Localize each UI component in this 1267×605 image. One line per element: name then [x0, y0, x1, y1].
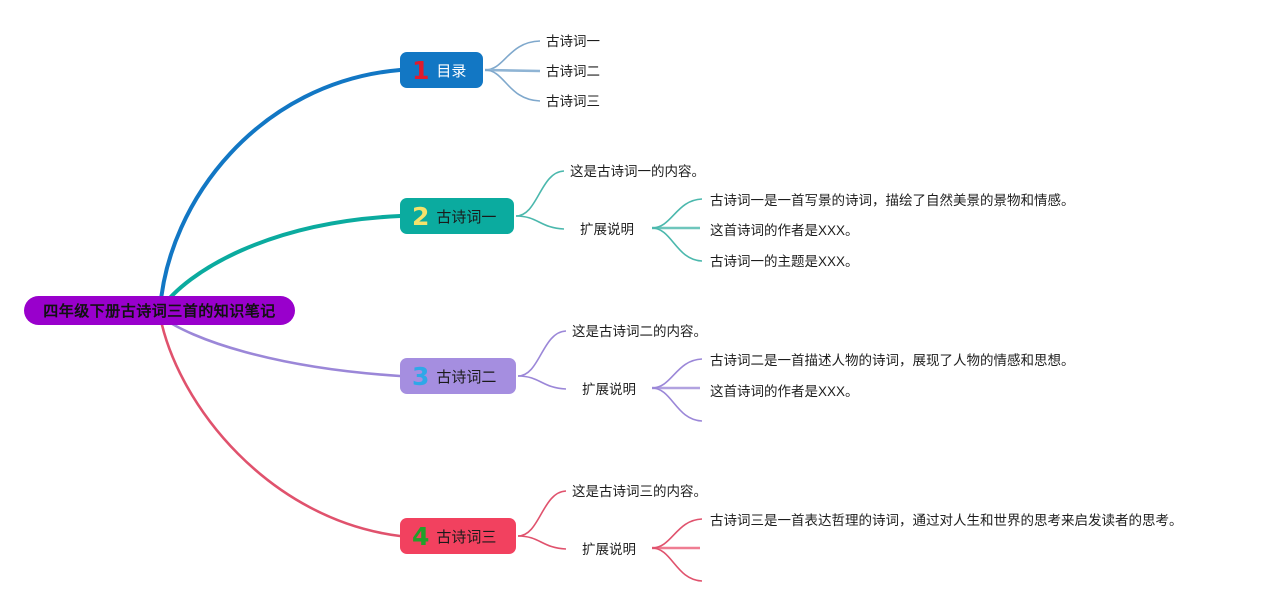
edge-branch-1-child-2 [485, 70, 540, 71]
edge-branch-1-child-1 [485, 41, 540, 70]
branch-3-sub-1[interactable]: 古诗词二是一首描述人物的诗词，展现了人物的情感和思想。 [710, 354, 1075, 368]
branch-4-sub-1[interactable]: 古诗词三是一首表达哲理的诗词，通过对人生和世界的思考来启发读者的思考。 [710, 514, 1183, 528]
main-node-2-title: 古诗词一 [436, 206, 496, 227]
main-node-4-number: 4 [412, 524, 429, 549]
branch-3-sub-2[interactable]: 这首诗词的作者是XXX。 [710, 385, 859, 399]
edge-branch-3-sub-3 [652, 388, 702, 421]
edge-branch-3-child-1 [518, 331, 566, 376]
branch-2-sub-2[interactable]: 这首诗词的作者是XXX。 [710, 224, 859, 238]
main-node-3-number: 3 [412, 364, 429, 389]
edge-root-to-branch-3 [160, 316, 400, 376]
branch-2-sub-1[interactable]: 古诗词一是一首写景的诗词，描绘了自然美景的景物和情感。 [710, 194, 1075, 208]
mindmap-canvas: 四年级下册古诗词三首的知识笔记 1 目录 古诗词一 古诗词二 古诗词三 2 古诗… [0, 0, 1267, 605]
main-node-3[interactable]: 3 古诗词二 [400, 358, 516, 394]
main-node-1-title: 目录 [436, 60, 466, 81]
branch-3-expand-label[interactable]: 扩展说明 [582, 383, 636, 397]
edge-root-to-branch-1 [160, 70, 400, 310]
branch-2-child-1[interactable]: 这是古诗词一的内容。 [570, 165, 705, 179]
main-node-3-title: 古诗词二 [436, 366, 496, 387]
branch-4-child-1[interactable]: 这是古诗词三的内容。 [572, 485, 707, 499]
branch-1-child-3[interactable]: 古诗词三 [546, 95, 600, 109]
root-node[interactable]: 四年级下册古诗词三首的知识笔记 [24, 296, 295, 325]
main-node-2-number: 2 [412, 204, 429, 229]
edge-branch-2-sub-1 [652, 199, 702, 228]
main-node-2[interactable]: 2 古诗词一 [400, 198, 514, 234]
main-node-4[interactable]: 4 古诗词三 [400, 518, 516, 554]
branch-1-child-2[interactable]: 古诗词二 [546, 65, 600, 79]
branch-1-child-1[interactable]: 古诗词一 [546, 35, 600, 49]
edge-branch-1-child-3 [485, 70, 540, 101]
branch-2-expand-label[interactable]: 扩展说明 [580, 223, 634, 237]
edge-branch-4-child-2 [518, 536, 566, 549]
branch-3-child-1[interactable]: 这是古诗词二的内容。 [572, 325, 707, 339]
edge-branch-2-sub-3 [652, 228, 702, 261]
root-node-label: 四年级下册古诗词三首的知识笔记 [43, 300, 276, 321]
edge-branch-3-sub-1 [652, 359, 702, 388]
branch-2-sub-3[interactable]: 古诗词一的主题是XXX。 [710, 255, 859, 269]
edge-branch-4-sub-1 [652, 519, 702, 548]
main-node-1[interactable]: 1 目录 [400, 52, 483, 88]
branch-4-expand-label[interactable]: 扩展说明 [582, 543, 636, 557]
main-node-1-number: 1 [412, 58, 429, 83]
edge-branch-2-child-2 [516, 216, 564, 229]
main-node-4-title: 古诗词三 [436, 526, 496, 547]
edge-branch-3-child-2 [518, 376, 566, 389]
edge-root-to-branch-4 [160, 316, 400, 536]
edge-branch-4-child-1 [518, 491, 566, 536]
edge-branch-2-child-1 [516, 171, 564, 216]
edge-branch-4-sub-3 [652, 548, 702, 581]
